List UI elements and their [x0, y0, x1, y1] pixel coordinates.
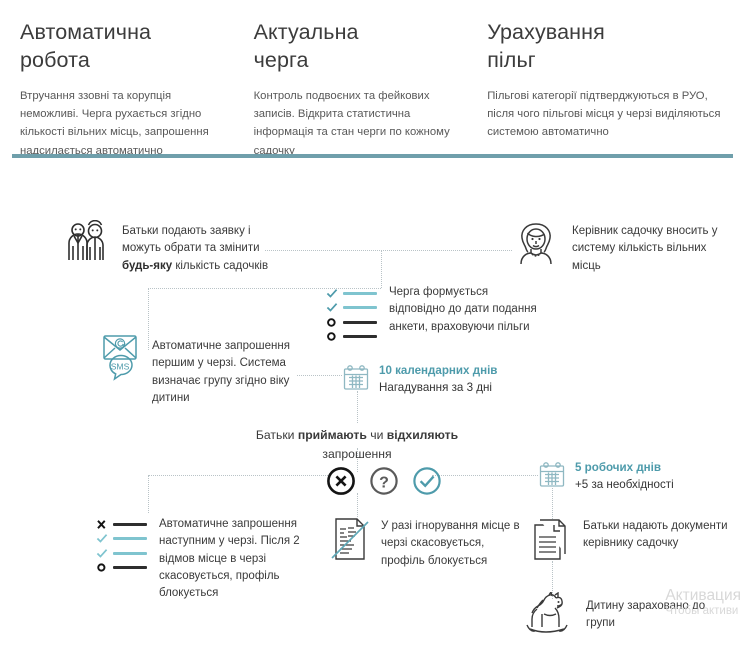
- rocking-horse-icon: [525, 592, 575, 639]
- connector-parents-to-director: [265, 250, 512, 251]
- circle-question-icon: ?: [369, 466, 399, 496]
- node-text: Керівник садочку вносить у систему кільк…: [572, 223, 732, 275]
- feature-body: Втручання ззовні та корупція неможливі. …: [20, 87, 232, 160]
- circle-x-icon: [326, 466, 356, 496]
- x-mark-icon: [96, 519, 108, 530]
- feature-card-actual-queue: Актуальначерга Контроль подвоєних та фей…: [254, 18, 488, 160]
- circle-bullet-icon: [326, 331, 338, 342]
- connector-parents-down: [381, 250, 382, 288]
- node-parents-provide-docs: Батьки надають документи керівнику садоч…: [532, 516, 732, 567]
- node-text: Батьки подають заявку і можуть обрати та…: [122, 223, 272, 275]
- svg-text:?: ?: [379, 474, 389, 491]
- document-crossed-icon: [330, 516, 370, 567]
- features-row: Автоматичнаробота Втручання ззовні та ко…: [0, 0, 745, 160]
- node-text: Автоматичне запрошення наступним у черзі…: [159, 516, 301, 602]
- email-sms-icon: SMS: [98, 332, 142, 395]
- svg-text:SMS: SMS: [111, 361, 130, 371]
- node-subtext: +5 за необхідності: [575, 477, 674, 494]
- feature-body: Контроль подвоєних та фейкових записів. …: [254, 87, 466, 160]
- node-heading: 10 календарних днів: [379, 363, 497, 380]
- node-auto-invite-next: Автоматичне запрошення наступним у черзі…: [96, 516, 301, 602]
- connector-x-to-left: [148, 475, 328, 476]
- check-mark-icon: [326, 288, 338, 299]
- feature-title: Автоматичнаробота: [20, 18, 232, 75]
- feature-card-benefits: Урахуванняпільг Пільгові категорії підтв…: [487, 18, 725, 160]
- circle-check-icon: [412, 466, 442, 496]
- circle-bullet-icon: [96, 562, 108, 573]
- connector-left-branch-down: [148, 475, 149, 513]
- node-auto-invite-first: SMS Автоматичне запрошення першим у черз…: [98, 332, 303, 407]
- process-flow-diagram: Батьки подають заявку і можуть обрати та…: [0, 176, 745, 662]
- connector-question-down: [357, 493, 358, 517]
- check-mark-icon: [326, 302, 338, 313]
- feature-title: Урахуванняпільг: [487, 18, 725, 75]
- director-woman-icon: [512, 220, 560, 273]
- node-text: Дитину зараховано до групи: [586, 598, 725, 633]
- check-mark-icon: [96, 533, 108, 544]
- node-text: Батьки приймають чи відхиляють запрошенн…: [256, 428, 458, 461]
- node-ten-calendar-days: 10 календарних днів Нагадування за 3 дні: [342, 364, 497, 397]
- node-queue-forms: Черга формується відповідно до дати пода…: [326, 284, 541, 342]
- connector-invite-to-days: [297, 375, 342, 376]
- node-five-working-days: 5 робочих днів +5 за необхідності: [538, 461, 674, 494]
- node-child-enrolled: Дитину зараховано до групи: [525, 592, 725, 639]
- connector-check-to-days5: [432, 475, 538, 476]
- calendar-icon: [538, 461, 566, 494]
- node-parents-apply: Батьки подають заявку і можуть обрати та…: [62, 220, 272, 275]
- feature-title: Актуальначерга: [254, 18, 466, 75]
- node-subtext: Нагадування за 3 дні: [379, 380, 497, 397]
- checklist-queue-icon: [326, 288, 377, 342]
- node-heading: 5 робочих днів: [575, 460, 674, 477]
- node-text: Батьки надають документи керівнику садоч…: [583, 518, 732, 553]
- checklist-refusal-icon: [96, 519, 147, 573]
- node-ignoring-cancels: У разі ігнорування місце в черзі скасову…: [330, 516, 520, 570]
- documents-icon: [532, 516, 572, 567]
- feature-body: Пільгові категорії підтверджуються в РУО…: [487, 87, 725, 142]
- node-director-enters: Керівник садочку вносить у систему кільк…: [512, 220, 732, 275]
- node-text: Черга формується відповідно до дати пода…: [389, 284, 541, 336]
- node-parents-accept-decline: Батьки приймають чи відхиляють запрошенн…: [226, 426, 488, 464]
- node-text: У разі ігнорування місце в черзі скасову…: [381, 518, 520, 570]
- section-divider: [12, 154, 733, 158]
- feature-card-automatic-work: Автоматичнаробота Втручання ззовні та ко…: [20, 18, 254, 160]
- circle-bullet-icon: [326, 317, 338, 328]
- node-text: Автоматичне запрошення першим у черзі. С…: [152, 338, 303, 407]
- node-decision-icons: ?: [326, 466, 442, 496]
- calendar-icon: [342, 364, 370, 397]
- check-mark-icon: [96, 548, 108, 559]
- parents-couple-icon: [62, 220, 110, 273]
